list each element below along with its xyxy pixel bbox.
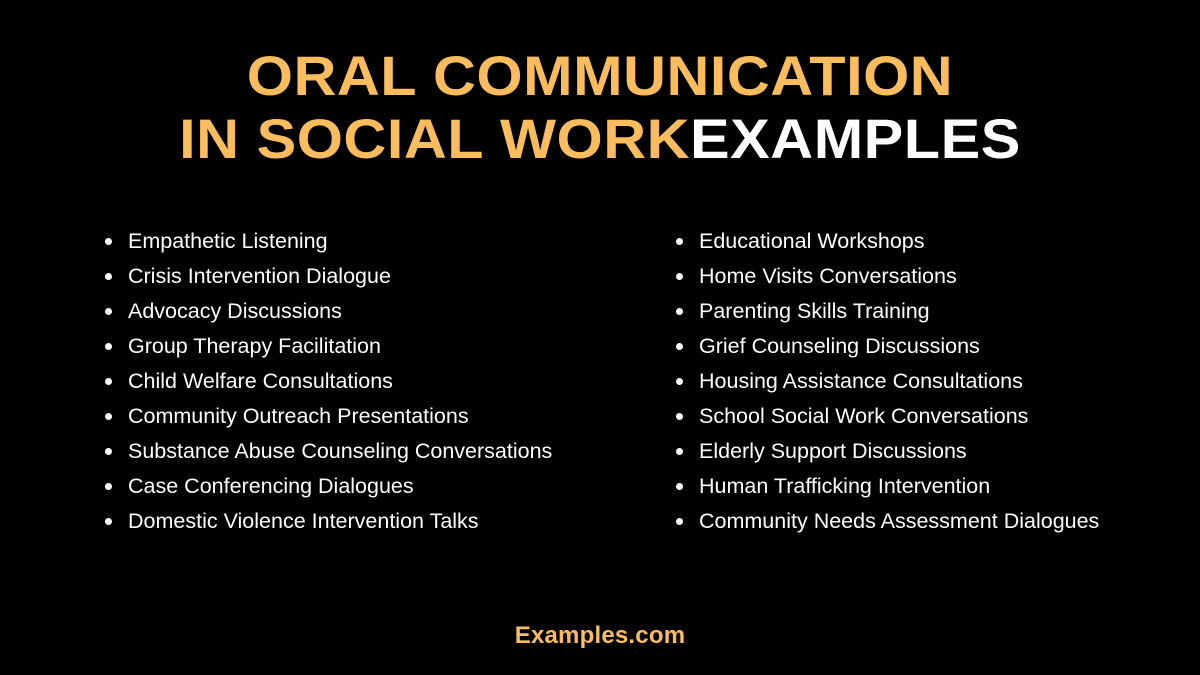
list-item-label: Group Therapy Facilitation bbox=[128, 334, 381, 358]
list-item: Advocacy Discussions bbox=[100, 294, 586, 329]
bullet-icon bbox=[105, 518, 112, 525]
bullet-icon bbox=[676, 483, 683, 490]
examples-list-left: Empathetic Listening Crisis Intervention… bbox=[100, 224, 586, 539]
bullet-icon bbox=[676, 343, 683, 350]
bullet-icon bbox=[105, 343, 112, 350]
list-item-label: Case Conferencing Dialogues bbox=[128, 474, 414, 498]
list-item-label: Community Outreach Presentations bbox=[128, 404, 469, 428]
bullet-icon bbox=[676, 518, 683, 525]
bullet-icon bbox=[105, 308, 112, 315]
bullet-icon bbox=[105, 378, 112, 385]
list-item: Case Conferencing Dialogues bbox=[100, 469, 586, 504]
bullet-icon bbox=[105, 413, 112, 420]
examples-list-right: Educational Workshops Home Visits Conver… bbox=[671, 224, 1160, 539]
bullet-icon bbox=[105, 273, 112, 280]
list-item: School Social Work Conversations bbox=[671, 399, 1160, 434]
examples-column-right: Educational Workshops Home Visits Conver… bbox=[600, 224, 1200, 539]
poster-canvas: ORAL COMMUNICATION IN SOCIAL WORKEXAMPLE… bbox=[0, 0, 1200, 675]
list-item: Parenting Skills Training bbox=[671, 294, 1160, 329]
bullet-icon bbox=[676, 238, 683, 245]
bullet-icon bbox=[676, 273, 683, 280]
page-title-line-2-white: EXAMPLES bbox=[690, 107, 1021, 170]
list-item: Community Needs Assessment Dialogues bbox=[671, 504, 1160, 539]
page-title-line-2-amber: IN SOCIAL WORK bbox=[179, 107, 690, 170]
list-item-label: Advocacy Discussions bbox=[128, 299, 342, 323]
bullet-icon bbox=[676, 308, 683, 315]
list-item: Community Outreach Presentations bbox=[100, 399, 586, 434]
bullet-icon bbox=[105, 238, 112, 245]
list-item-label: Empathetic Listening bbox=[128, 229, 328, 253]
list-item-label: Housing Assistance Consultations bbox=[699, 369, 1023, 393]
bullet-icon bbox=[105, 483, 112, 490]
list-item: Educational Workshops bbox=[671, 224, 1160, 259]
examples-columns: Empathetic Listening Crisis Intervention… bbox=[0, 224, 1200, 539]
list-item-label: School Social Work Conversations bbox=[699, 404, 1028, 428]
page-title-line-1: ORAL COMMUNICATION bbox=[0, 44, 1200, 107]
list-item-label: Parenting Skills Training bbox=[699, 299, 930, 323]
page-title: ORAL COMMUNICATION IN SOCIAL WORKEXAMPLE… bbox=[0, 44, 1200, 170]
list-item-label: Substance Abuse Counseling Conversations bbox=[128, 439, 552, 463]
list-item: Domestic Violence Intervention Talks bbox=[100, 504, 586, 539]
bullet-icon bbox=[676, 448, 683, 455]
list-item: Home Visits Conversations bbox=[671, 259, 1160, 294]
page-title-line-2: IN SOCIAL WORKEXAMPLES bbox=[0, 107, 1200, 170]
list-item-label: Human Trafficking Intervention bbox=[699, 474, 990, 498]
list-item: Elderly Support Discussions bbox=[671, 434, 1160, 469]
list-item-label: Home Visits Conversations bbox=[699, 264, 957, 288]
list-item-label: Crisis Intervention Dialogue bbox=[128, 264, 391, 288]
list-item: Substance Abuse Counseling Conversations bbox=[100, 434, 586, 469]
bullet-icon bbox=[105, 448, 112, 455]
list-item-label: Domestic Violence Intervention Talks bbox=[128, 509, 479, 533]
list-item: Human Trafficking Intervention bbox=[671, 469, 1160, 504]
examples-column-left: Empathetic Listening Crisis Intervention… bbox=[0, 224, 600, 539]
list-item-label: Grief Counseling Discussions bbox=[699, 334, 980, 358]
list-item: Group Therapy Facilitation bbox=[100, 329, 586, 364]
list-item: Grief Counseling Discussions bbox=[671, 329, 1160, 364]
list-item-label: Community Needs Assessment Dialogues bbox=[699, 509, 1099, 533]
list-item: Crisis Intervention Dialogue bbox=[100, 259, 586, 294]
list-item: Housing Assistance Consultations bbox=[671, 364, 1160, 399]
list-item: Child Welfare Consultations bbox=[100, 364, 586, 399]
site-logo[interactable]: Examples.com bbox=[515, 622, 685, 650]
list-item-label: Elderly Support Discussions bbox=[699, 439, 967, 463]
list-item-label: Child Welfare Consultations bbox=[128, 369, 393, 393]
footer: Examples.com bbox=[0, 622, 1200, 650]
bullet-icon bbox=[676, 413, 683, 420]
bullet-icon bbox=[676, 378, 683, 385]
list-item: Empathetic Listening bbox=[100, 224, 586, 259]
list-item-label: Educational Workshops bbox=[699, 229, 924, 253]
